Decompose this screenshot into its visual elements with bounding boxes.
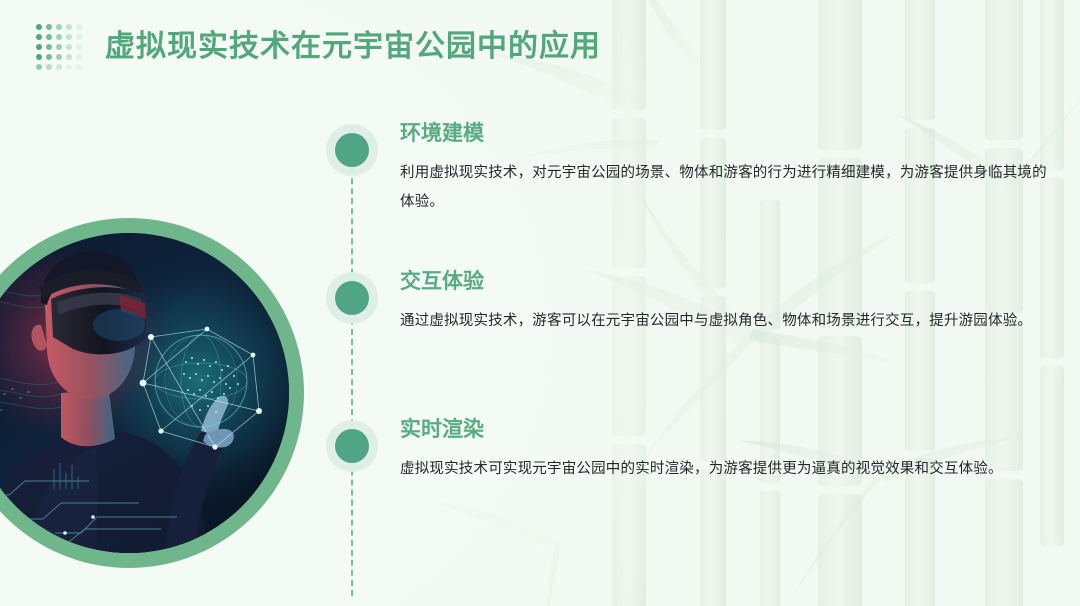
timeline-heading-3: 实时渲染	[400, 414, 1052, 443]
dot-icon	[46, 44, 52, 50]
dot-icon	[56, 34, 62, 40]
dot-icon	[46, 24, 52, 30]
timeline-item-2[interactable]: 交互体验 通过虚拟现实技术，游客可以在元宇宙公园中与虚拟角色、物体和场景进行交互…	[326, 266, 1052, 386]
dot-icon	[36, 54, 42, 60]
timeline-body-2: 通过虚拟现实技术，游客可以在元宇宙公园中与虚拟角色、物体和场景进行交互，提升游园…	[400, 307, 1052, 336]
dot-icon	[76, 34, 82, 40]
dot-icon	[36, 34, 42, 40]
page-title: 虚拟现实技术在元宇宙公园中的应用	[105, 32, 601, 62]
dot-icon	[66, 54, 72, 60]
dot-grid-decoration	[36, 24, 83, 71]
timeline-body-1: 利用虚拟现实技术，对元宇宙公园的场景、物体和游客的行为进行精细建模，为游客提供身…	[400, 159, 1052, 217]
dot-icon	[36, 64, 42, 70]
timeline-bullet-icon	[335, 281, 369, 315]
photo-ring	[0, 218, 304, 568]
timeline-item-3[interactable]: 实时渲染 虚拟现实技术可实现元宇宙公园中的实时渲染，为游客提供更为逼真的视觉效果…	[326, 414, 1052, 534]
dot-icon	[66, 24, 72, 30]
timeline-bullet-icon	[335, 429, 369, 463]
dot-icon	[36, 44, 42, 50]
dot-icon	[66, 64, 72, 70]
dot-icon	[76, 54, 82, 60]
dot-icon	[56, 24, 62, 30]
slide-canvas: 虚拟现实技术在元宇宙公园中的应用	[0, 0, 1080, 606]
dot-icon	[76, 24, 82, 30]
vr-photo	[0, 233, 289, 553]
dot-icon	[46, 54, 52, 60]
dot-icon	[56, 44, 62, 50]
dot-icon	[56, 54, 62, 60]
timeline-heading-1: 环境建模	[400, 118, 1052, 147]
timeline-body-3: 虚拟现实技术可实现元宇宙公园中的实时渲染，为游客提供更为逼真的视觉效果和交互体验…	[400, 455, 1052, 484]
dot-icon	[36, 24, 42, 30]
timeline-bullet-icon	[335, 133, 369, 167]
dot-icon	[66, 34, 72, 40]
timeline-list: 环境建模 利用虚拟现实技术，对元宇宙公园的场景、物体和游客的行为进行精细建模，为…	[326, 118, 1052, 534]
dot-icon	[76, 44, 82, 50]
dot-icon	[46, 34, 52, 40]
dot-icon	[66, 44, 72, 50]
dot-icon	[76, 64, 82, 70]
timeline-item-1[interactable]: 环境建模 利用虚拟现实技术，对元宇宙公园的场景、物体和游客的行为进行精细建模，为…	[326, 118, 1052, 238]
timeline-heading-2: 交互体验	[400, 266, 1052, 295]
dot-icon	[56, 64, 62, 70]
slide-header: 虚拟现实技术在元宇宙公园中的应用	[36, 22, 601, 71]
dot-icon	[46, 64, 52, 70]
